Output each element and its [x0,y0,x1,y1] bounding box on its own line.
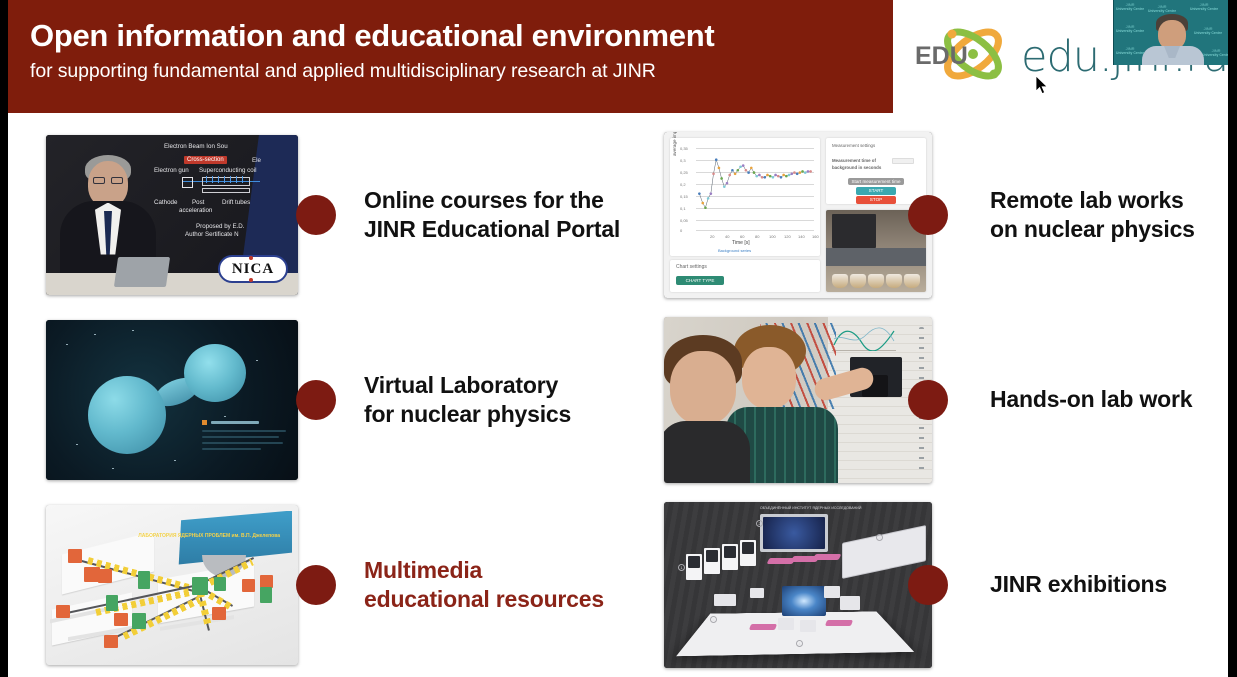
hands-on-lab-thumbnail[interactable] [664,317,932,483]
item-label: Hands-on lab work [990,385,1192,414]
item-hands-on-lab[interactable]: Hands-on lab work [656,307,1228,492]
exhibition-hall-render: ОБЪЕДИНЁННЫЙ ИНСТИТУТ ЯДЕРНЫХ ИССЛЕДОВАН… [664,502,932,668]
measurement-chart: average impulses per second 0,35 0,3 0,2… [670,138,820,256]
item-label-line1: Remote lab works [990,186,1195,215]
remote-lab-thumbnail[interactable]: average impulses per second 0,35 0,3 0,2… [664,132,932,298]
field-label-line2: background in seconds [832,165,881,170]
jinr-exhibitions-thumbnail[interactable]: ОБЪЕДИНЁННЫЙ ИНСТИТУТ ЯДЕРНЫХ ИССЛЕДОВАН… [664,502,932,668]
multimedia-resources-thumbnail[interactable]: ЛАБОРАТОРИЯ ЯДЕРНЫХ ПРОБЛЕМ им. В.П. Дже… [46,505,298,665]
field-label-line1: Measurement time of [832,158,876,163]
edu-jinr-atom-logo: EDU [915,14,1015,100]
fission-visualisation [46,320,298,480]
item-label-line2: for nuclear physics [364,400,571,429]
item-label: Online courses for the JINR Educational … [364,186,620,244]
left-letterbox-band [0,0,8,677]
measurement-settings-panel: Measurement settings Measurement time of… [826,138,926,204]
item-virtual-laboratory[interactable]: Virtual Laboratory for nuclear physics [38,307,638,492]
presentation-slide: Open information and educational environ… [8,0,1228,677]
item-label-line1: Online courses for the [364,186,620,215]
item-label-line2: educational resources [364,585,604,614]
item-jinr-exhibitions[interactable]: ОБЪЕДИНЁННЫЙ ИНСТИТУТ ЯДЕРНЫХ ИССЛЕДОВАН… [656,492,1228,677]
bullet-marker [296,380,336,420]
nica-logo: NICA [218,255,288,283]
left-column: Electron Beam Ion Sou Cross-section Ele … [38,122,638,677]
lecture-video-still: Electron Beam Ion Sou Cross-section Ele … [46,135,298,295]
bullet-marker [908,565,948,605]
item-label-line1: Hands-on lab work [990,385,1192,414]
item-label-line2: JINR Educational Portal [364,215,620,244]
chart-settings-panel: Chart settings CHART TYPE [670,260,820,292]
item-multimedia-resources[interactable]: ЛАБОРАТОРИЯ ЯДЕРНЫХ ПРОБЛЕМ им. В.П. Дже… [38,492,638,677]
virtual-laboratory-thumbnail[interactable] [46,320,298,480]
item-label-line1: Virtual Laboratory [364,371,571,400]
page-title: Open information and educational environ… [30,18,893,54]
start-measurement-group-label: Start measurement time [848,178,904,185]
right-letterbox-band [1228,0,1237,677]
stop-button[interactable]: STOP [856,196,896,204]
info-panel [202,420,286,454]
slide-header: Open information and educational environ… [8,0,893,113]
presenter-webcam-overlay[interactable]: JINRUniversity Centre JINRUniversity Cen… [1113,0,1228,65]
right-column: average impulses per second 0,35 0,3 0,2… [656,122,1228,677]
settings-title: Measurement settings [832,143,875,148]
remote-lab-web-ui: average impulses per second 0,35 0,3 0,2… [664,132,932,298]
item-label-line1: Multimedia [364,556,604,585]
background-time-input[interactable] [892,158,914,164]
item-label-line2: on nuclear physics [990,215,1195,244]
online-courses-thumbnail[interactable]: Electron Beam Ion Sou Cross-section Ele … [46,135,298,295]
accelerator-complex-map: ЛАБОРАТОРИЯ ЯДЕРНЫХ ПРОБЛЕМ им. В.П. Дже… [46,505,298,665]
page-subtitle: for supporting fundamental and applied m… [30,58,893,84]
chart-type-button[interactable]: CHART TYPE [676,276,724,285]
item-label: Virtual Laboratory for nuclear physics [364,371,571,429]
bullet-marker [296,565,336,605]
item-remote-lab[interactable]: average impulses per second 0,35 0,3 0,2… [656,122,1228,307]
mouse-cursor [1036,76,1050,96]
item-label-line1: JINR exhibitions [990,570,1167,599]
start-button[interactable]: START [856,187,896,195]
chart-settings-title: Chart settings [676,264,707,270]
item-label: Multimedia educational resources [364,556,604,614]
item-label: Remote lab works on nuclear physics [990,186,1195,244]
students-lab-photo [664,317,932,483]
bullet-marker [908,380,948,420]
item-label: JINR exhibitions [990,570,1167,599]
svg-text:EDU: EDU [915,42,968,70]
bullet-marker [908,195,948,235]
bullet-marker [296,195,336,235]
item-online-courses[interactable]: Electron Beam Ion Sou Cross-section Ele … [38,122,638,307]
